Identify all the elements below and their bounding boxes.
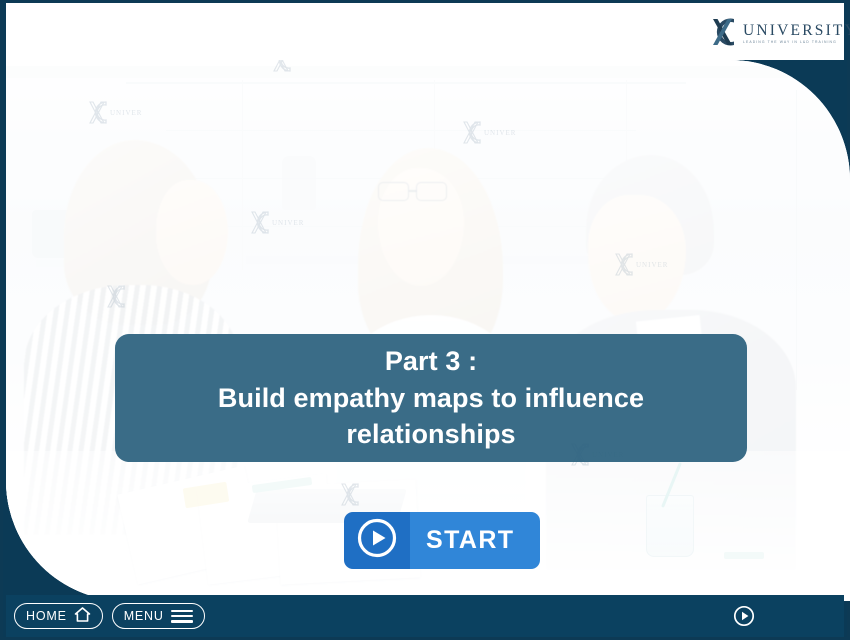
menu-button[interactable]: MENU bbox=[112, 603, 205, 629]
play-circle-icon bbox=[356, 517, 398, 564]
menu-button-label: MENU bbox=[124, 609, 164, 623]
player-bottom-bar: HOME MENU bbox=[6, 595, 844, 637]
xc-university-watermark: UNIVERSITY bbox=[610, 250, 668, 284]
hamburger-icon bbox=[171, 610, 193, 623]
xc-university-watermark bbox=[336, 480, 394, 514]
home-icon bbox=[74, 606, 91, 626]
play-circle-icon bbox=[733, 614, 755, 631]
start-button[interactable]: START bbox=[344, 512, 540, 569]
logo-wordmark: UNIVERSITY bbox=[743, 23, 850, 39]
svg-text:UNIVERSITY: UNIVERSITY bbox=[636, 261, 668, 269]
svg-text:UNIVERSITY: UNIVERSITY bbox=[272, 219, 304, 227]
title-line-2: Build empathy maps to influence relation… bbox=[141, 380, 721, 453]
xc-monogram-icon bbox=[704, 12, 744, 52]
slide-stage: UNIVERSITY UNIVERSITY bbox=[6, 60, 850, 601]
title-line-1: Part 3 : bbox=[141, 343, 721, 379]
svg-text:UNIVERSITY: UNIVERSITY bbox=[110, 109, 142, 117]
next-button[interactable] bbox=[733, 605, 755, 627]
logo-tagline: LEADING THE WAY IN L&D TRAINING bbox=[743, 41, 850, 44]
xc-university-watermark bbox=[268, 60, 326, 80]
start-label-container[interactable]: START bbox=[410, 512, 540, 569]
university-logo: UNIVERSITY LEADING THE WAY IN L&D TRAINI… bbox=[704, 10, 824, 54]
xc-university-watermark: UNIVERSITY bbox=[246, 208, 304, 242]
home-button-label: HOME bbox=[26, 609, 67, 623]
slide-title-card: Part 3 : Build empathy maps to influence… bbox=[115, 334, 747, 462]
start-icon-container[interactable] bbox=[344, 512, 410, 569]
svg-text:UNIVERSITY: UNIVERSITY bbox=[484, 129, 516, 137]
start-button-label: START bbox=[426, 526, 514, 555]
xc-university-watermark bbox=[102, 282, 160, 316]
course-player-frame: UNIVERSITY LEADING THE WAY IN L&D TRAINI… bbox=[0, 0, 850, 640]
home-button[interactable]: HOME bbox=[14, 603, 103, 629]
xc-university-watermark: UNIVERSITY bbox=[458, 118, 516, 152]
page-title: Part 3 : Build empathy maps to influence… bbox=[115, 343, 747, 452]
xc-university-watermark: UNIVERSITY bbox=[84, 98, 142, 132]
course-header: UNIVERSITY LEADING THE WAY IN L&D TRAINI… bbox=[6, 3, 844, 60]
